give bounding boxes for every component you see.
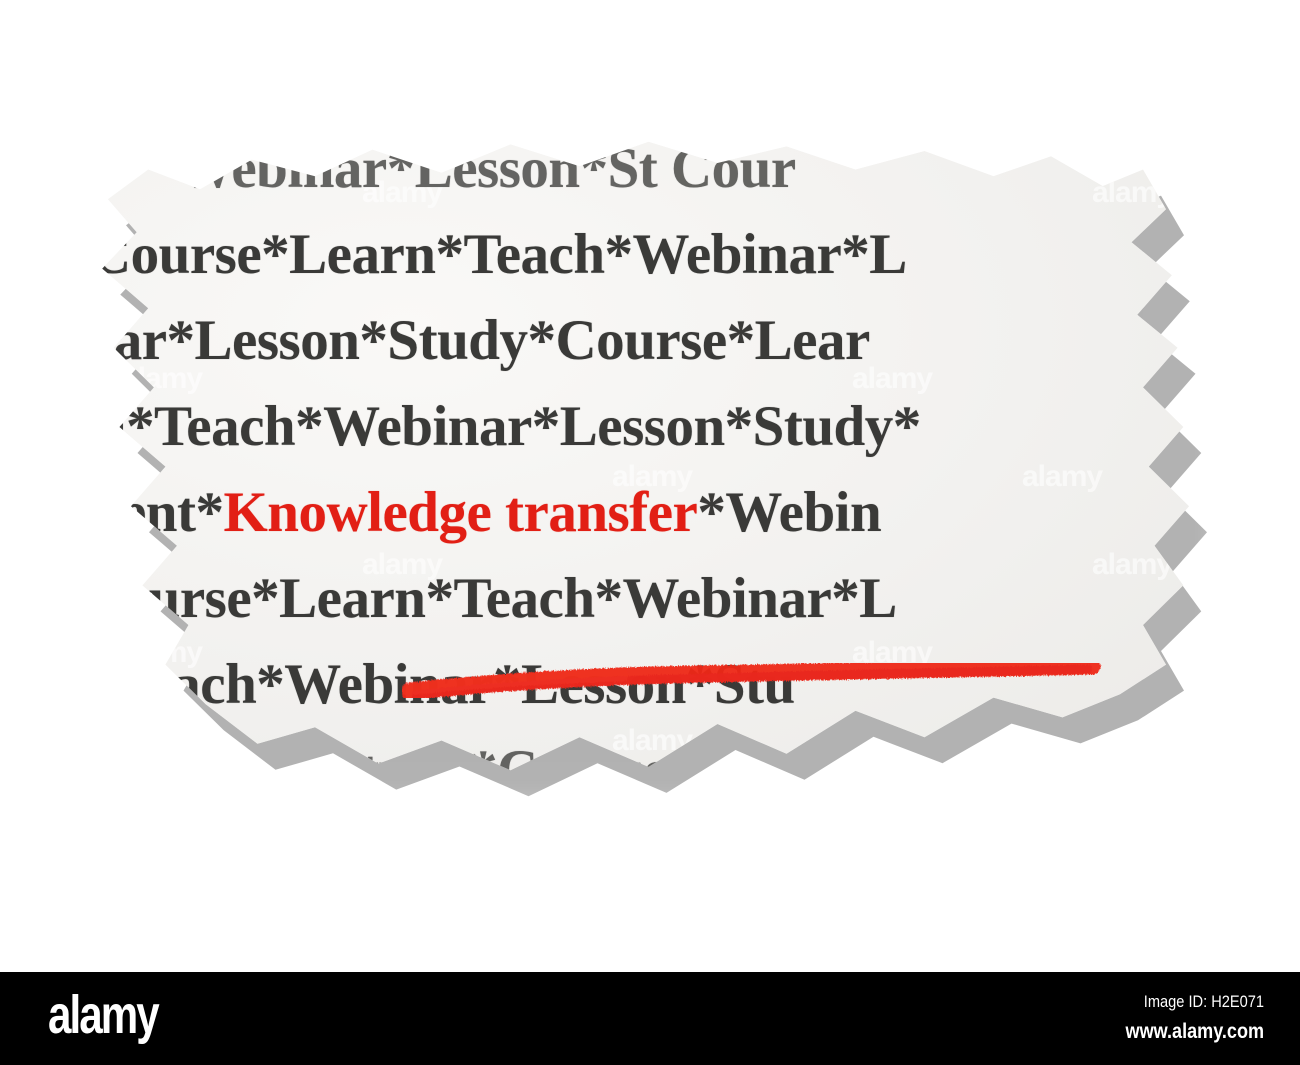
keyword-row-0: Webinar*Lesson*St Cour	[178, 130, 1212, 212]
keyword-row-2: binar*Lesson*Study*Course*Lear	[62, 298, 1212, 384]
torn-paper-scrap: alamy alamy alamy alamy alamy alamy alam…	[62, 130, 1252, 830]
highlight-phrase: Knowledge transfer	[223, 481, 697, 544]
keyword-row-1: *Course*Learn*Teach*Webinar*L	[62, 212, 1212, 298]
row-prefix-text: oment	[62, 481, 195, 544]
alamy-url: www.alamy.com	[1125, 1020, 1264, 1044]
alamy-footer-bar: alamy Image ID: H2E071 www.alamy.com	[0, 972, 1300, 1065]
paper-surface: alamy alamy alamy alamy alamy alamy alam…	[62, 130, 1212, 790]
image-id-label: Image ID: H2E071	[1125, 992, 1264, 1012]
separator-asterisk: *	[697, 481, 725, 544]
row-suffix-text: Webin	[725, 481, 881, 544]
keyword-row-3: rn*Teach*Webinar*Lesson*Study*	[70, 384, 1212, 470]
keyword-rows: Webinar*Lesson*St Cour *Course*Learn*Tea…	[62, 130, 1212, 790]
keyword-row-5: Course*Learn*Teach*Webinar*L	[80, 556, 1212, 642]
footer-meta: Image ID: H2E071 www.alamy.com	[1103, 992, 1264, 1044]
separator-asterisk: *	[195, 481, 223, 544]
alamy-logo: alamy	[48, 988, 158, 1042]
keyword-row-highlight: oment*Knowledge transfer*Webin	[62, 470, 1212, 556]
screenshot-canvas: alamy alamy alamy alamy alamy alamy alam…	[0, 0, 1300, 1065]
